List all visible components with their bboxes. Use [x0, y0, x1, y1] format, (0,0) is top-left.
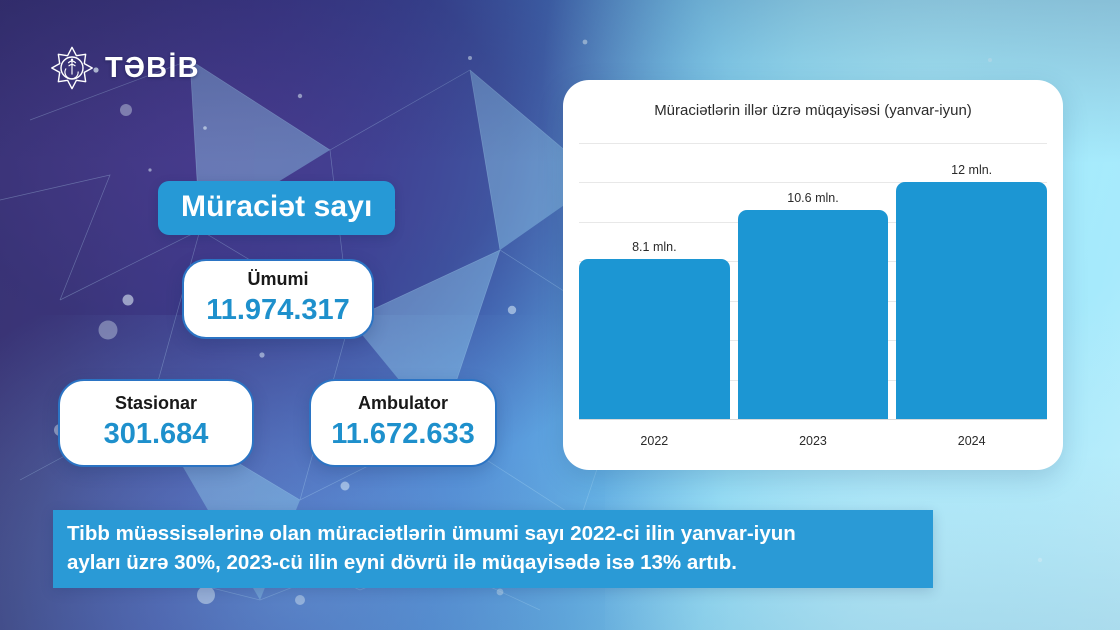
- chart-tick-label: 2023: [738, 434, 889, 448]
- chart-bar-label: 12 mln.: [896, 163, 1047, 177]
- chart-bar: [738, 210, 889, 419]
- chart-axis-line: [579, 419, 1047, 420]
- stat-label: Ümumi: [247, 270, 308, 290]
- chart-bar-label: 10.6 mln.: [738, 191, 889, 205]
- star-caduceus-icon: [50, 46, 94, 90]
- stat-card-outpatient: Ambulator 11.672.633: [309, 379, 497, 467]
- caption-line-2: ayları üzrə 30%, 2023-cü ilin eyni dövrü…: [67, 548, 919, 577]
- stat-card-inpatient: Stasionar 301.684: [58, 379, 254, 467]
- chart-bar: [579, 259, 730, 419]
- chart-card: Müraciətlərin illər üzrə müqayisəsi (yan…: [563, 80, 1063, 470]
- caption-line-1: Tibb müəssisələrinə olan müraciətlərin ü…: [67, 519, 919, 548]
- chart-plot-area: 8.1 mln.10.6 mln.12 mln.: [579, 144, 1047, 420]
- stat-card-total: Ümumi 11.974.317: [182, 259, 374, 339]
- stat-value: 11.974.317: [206, 294, 350, 327]
- stat-value: 301.684: [104, 418, 209, 451]
- chart-bar: [896, 182, 1047, 419]
- chart-bar-label: 8.1 mln.: [579, 240, 730, 254]
- stat-value: 11.672.633: [331, 418, 475, 451]
- stat-label: Ambulator: [358, 394, 448, 414]
- chart-title: Müraciətlərin illər üzrə müqayisəsi (yan…: [563, 102, 1063, 119]
- brand-wordmark: TƏBİB: [105, 52, 200, 85]
- chart-x-axis-labels: 202220232024: [579, 434, 1047, 452]
- chart-tick-label: 2024: [896, 434, 1047, 448]
- chart-tick-label: 2022: [579, 434, 730, 448]
- gridline: [579, 143, 1047, 144]
- caption-banner: Tibb müəssisələrinə olan müraciətlərin ü…: [53, 510, 933, 588]
- stat-label: Stasionar: [115, 394, 197, 414]
- brand-logo: TƏBİB: [50, 46, 200, 90]
- page-title-badge: Müraciət sayı: [158, 181, 395, 235]
